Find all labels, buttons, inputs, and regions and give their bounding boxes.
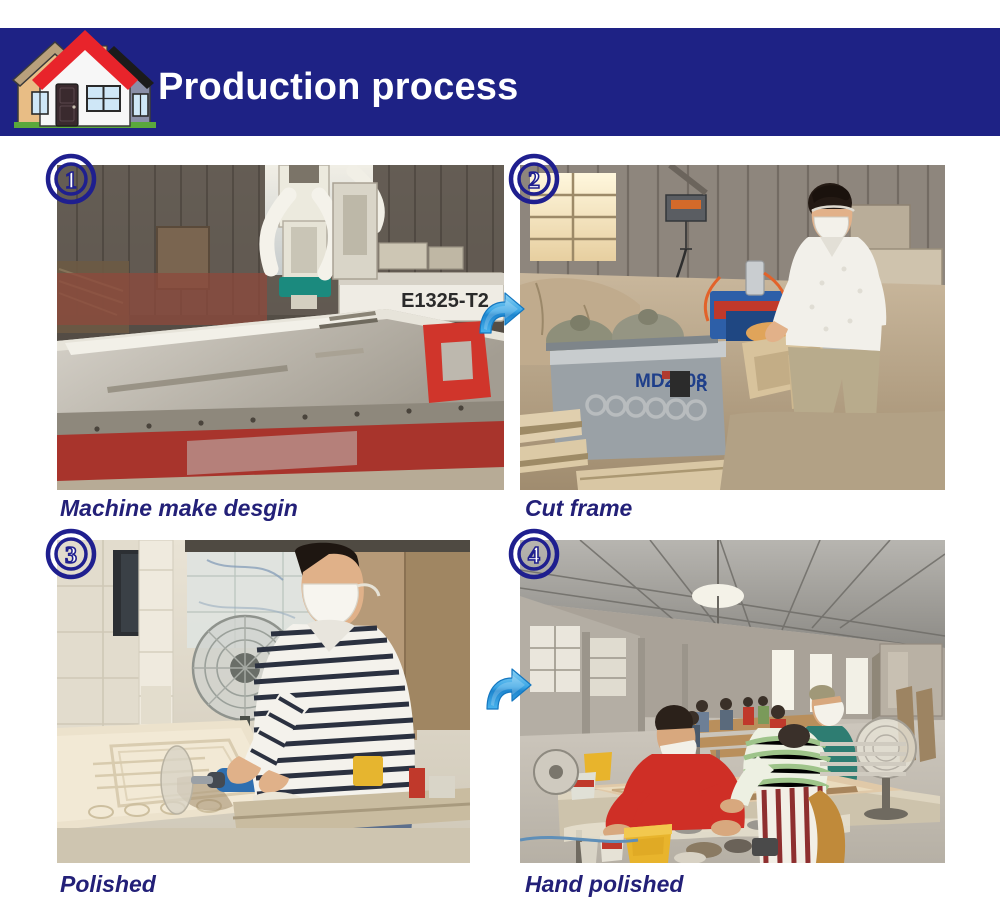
- svg-text:R: R: [696, 378, 708, 395]
- step-number-4-text: 4: [528, 543, 540, 569]
- step-number-1-badge: 1: [45, 153, 97, 205]
- step-1-photo: E1325-T2: [57, 165, 504, 490]
- step-card-2: MD2108 R: [520, 165, 945, 490]
- arrow-right-icon-1: [474, 289, 526, 339]
- step-card-3: 3: [57, 540, 470, 863]
- step-2-photo: MD2108 R: [520, 165, 945, 490]
- step-1-caption: Machine make desgin: [60, 497, 298, 520]
- step-3-photo: [57, 540, 470, 863]
- step-2-caption: Cut frame: [525, 497, 632, 520]
- step-number-4-badge: 4: [508, 528, 560, 580]
- house-icon: [10, 22, 160, 138]
- step-3-caption: Polished: [60, 873, 156, 896]
- step-number-3-badge: 3: [45, 528, 97, 580]
- step-number-2-text: 2: [528, 168, 540, 194]
- step-number-3-text: 3: [65, 543, 77, 569]
- arrow-right-icon-2: [481, 665, 533, 715]
- step-number-1-text: 1: [65, 168, 77, 194]
- step-card-4: 4: [520, 540, 945, 863]
- step-card-1: E1325-T2: [57, 165, 504, 490]
- step-4-caption: Hand polished: [525, 873, 683, 896]
- page-title: Production process: [158, 68, 518, 106]
- step-4-photo: [520, 540, 945, 863]
- step-number-2-badge: 2: [508, 153, 560, 205]
